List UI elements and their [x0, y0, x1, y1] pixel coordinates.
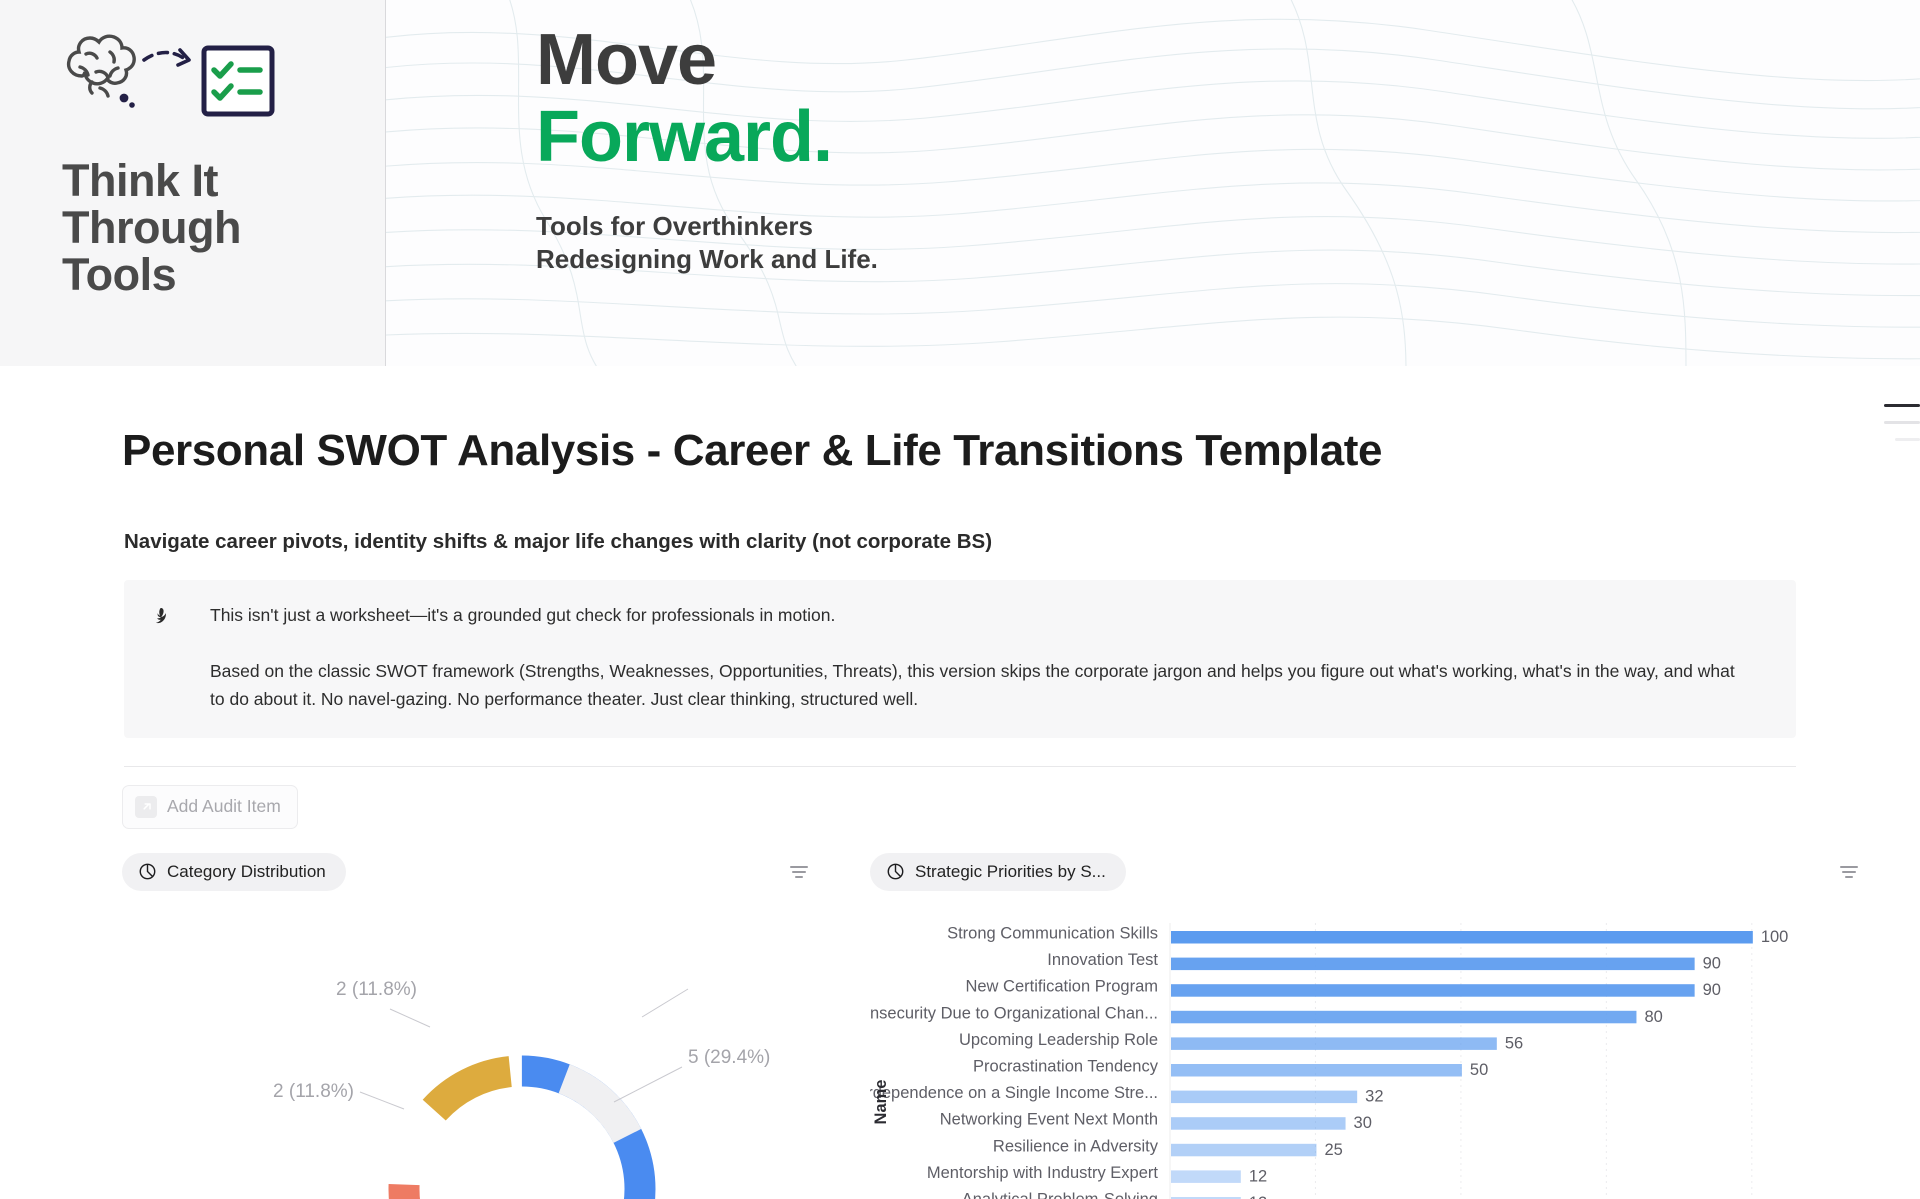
bar[interactable]: [1171, 1010, 1636, 1023]
logo-line-1: Think It: [62, 158, 241, 205]
logo-pane: Think It Through Tools: [0, 0, 386, 366]
bar-category-label: Resilience in Adversity: [993, 1137, 1159, 1155]
bar-category-label: Job Insecurity Due to Organizational Cha…: [870, 1004, 1158, 1022]
tab-strategic-priorities-label: Strategic Priorities by S...: [915, 862, 1106, 882]
tab-category-distribution[interactable]: Category Distribution: [122, 853, 346, 891]
bar-category-label: New Certification Program: [965, 977, 1158, 995]
bar[interactable]: [1171, 1117, 1346, 1130]
donut-label-4: 2 (11.8%): [336, 979, 417, 1000]
logo-line-2: Through: [62, 205, 241, 252]
bar-category-label: Upcoming Leadership Role: [959, 1031, 1158, 1049]
external-link-icon: [135, 796, 157, 818]
bar[interactable]: [1171, 1090, 1357, 1103]
horizontal-bar-chart: Strong Communication Skills100Innovation…: [870, 917, 1920, 1199]
bar-category-label: Analytical Problem-Solving: [962, 1190, 1158, 1199]
brain-to-checklist-icon: [52, 26, 332, 126]
bar-value-label: 50: [1470, 1061, 1488, 1079]
bar-value-label: 30: [1354, 1114, 1372, 1132]
bar[interactable]: [1171, 931, 1753, 944]
category-distribution-panel: Category Distribution: [0, 853, 870, 1199]
edge-line-1: [1884, 404, 1920, 407]
document-body: Personal SWOT Analysis - Career & Life T…: [0, 426, 1920, 1199]
bar-value-label: 100: [1761, 928, 1789, 946]
bar-category-label: Procrastination Tendency: [973, 1057, 1159, 1075]
strategic-priorities-panel: Strategic Priorities by S... Strong Comm…: [870, 853, 1920, 1199]
callout-lead-text: This isn't just a worksheet—it's a groun…: [186, 602, 835, 628]
page-root: Think It Through Tools: [0, 0, 1920, 1199]
add-audit-item-button[interactable]: Add Audit Item: [122, 785, 298, 829]
banner-headline-move: Move: [536, 22, 878, 99]
callout-body-text: Based on the classic SWOT framework (Str…: [150, 657, 1735, 714]
edge-line-2: [1884, 421, 1920, 424]
pointing-hand-icon: [150, 602, 186, 637]
bar-value-label: 32: [1365, 1087, 1383, 1105]
banner-tagline-line-1: Tools for Overthinkers: [536, 210, 878, 243]
page-subtitle: Navigate career pivots, identity shifts …: [124, 530, 1920, 554]
tab-category-distribution-label: Category Distribution: [167, 862, 326, 882]
logo-wordmark: Think It Through Tools: [62, 158, 241, 298]
bar-category-label: Overdependence on a Single Income Stre..…: [870, 1084, 1158, 1102]
bar[interactable]: [1171, 1170, 1241, 1183]
filter-icon-right[interactable]: [1838, 863, 1860, 881]
pie-chart-icon: [138, 862, 157, 881]
bar-value-label: 56: [1505, 1034, 1523, 1052]
add-audit-item-label: Add Audit Item: [167, 796, 281, 817]
banner-tagline-line-2: Redesigning Work and Life.: [536, 243, 878, 276]
bar-value-label: 90: [1703, 954, 1721, 972]
banner-headline-forward: Forward.: [536, 99, 878, 176]
donut-label-3: 2 (11.8%): [273, 1081, 354, 1102]
banner-headline-block: Move Forward. Tools for Overthinkers Red…: [536, 22, 878, 277]
edge-line-3: [1895, 438, 1920, 441]
bar-value-label: 90: [1703, 981, 1721, 999]
bar-category-label: Innovation Test: [1047, 951, 1158, 969]
bar-category-label: Networking Event Next Month: [940, 1110, 1158, 1128]
banner-tagline: Tools for Overthinkers Redesigning Work …: [536, 210, 878, 277]
bar-value-label: 25: [1324, 1140, 1342, 1158]
logo-line-3: Tools: [62, 252, 241, 299]
tab-strategic-priorities[interactable]: Strategic Priorities by S...: [870, 853, 1126, 891]
bar[interactable]: [1171, 1037, 1497, 1050]
header-banner: Think It Through Tools: [0, 0, 1920, 366]
bar-value-label: 80: [1644, 1007, 1662, 1025]
bar[interactable]: [1171, 1064, 1462, 1077]
bar[interactable]: [1171, 984, 1695, 997]
bar-value-label: 12: [1249, 1167, 1267, 1185]
page-title: Personal SWOT Analysis - Career & Life T…: [122, 426, 1920, 476]
chart-row: Category Distribution: [0, 853, 1920, 1199]
intro-callout: This isn't just a worksheet—it's a groun…: [124, 580, 1796, 738]
bar[interactable]: [1171, 1143, 1316, 1156]
donut-chart: 5 (29.4%) 2 (11.8%) 2 (11.8%) 3 (17.6%): [122, 917, 870, 1199]
bar-category-label: Mentorship with Industry Expert: [927, 1164, 1159, 1182]
bar-category-label: Strong Communication Skills: [947, 924, 1158, 942]
section-divider: [124, 766, 1796, 767]
donut-label-0: 5 (29.4%): [688, 1047, 770, 1068]
filter-icon-left[interactable]: [788, 863, 810, 881]
right-edge-menu[interactable]: [1884, 404, 1920, 455]
bar-chart-y-axis-title: Name: [872, 1079, 890, 1124]
pie-chart-icon-2: [886, 862, 905, 881]
bar-value-label: 12: [1249, 1194, 1267, 1199]
banner-artwork-pane: Move Forward. Tools for Overthinkers Red…: [386, 0, 1920, 366]
bar[interactable]: [1171, 957, 1695, 970]
